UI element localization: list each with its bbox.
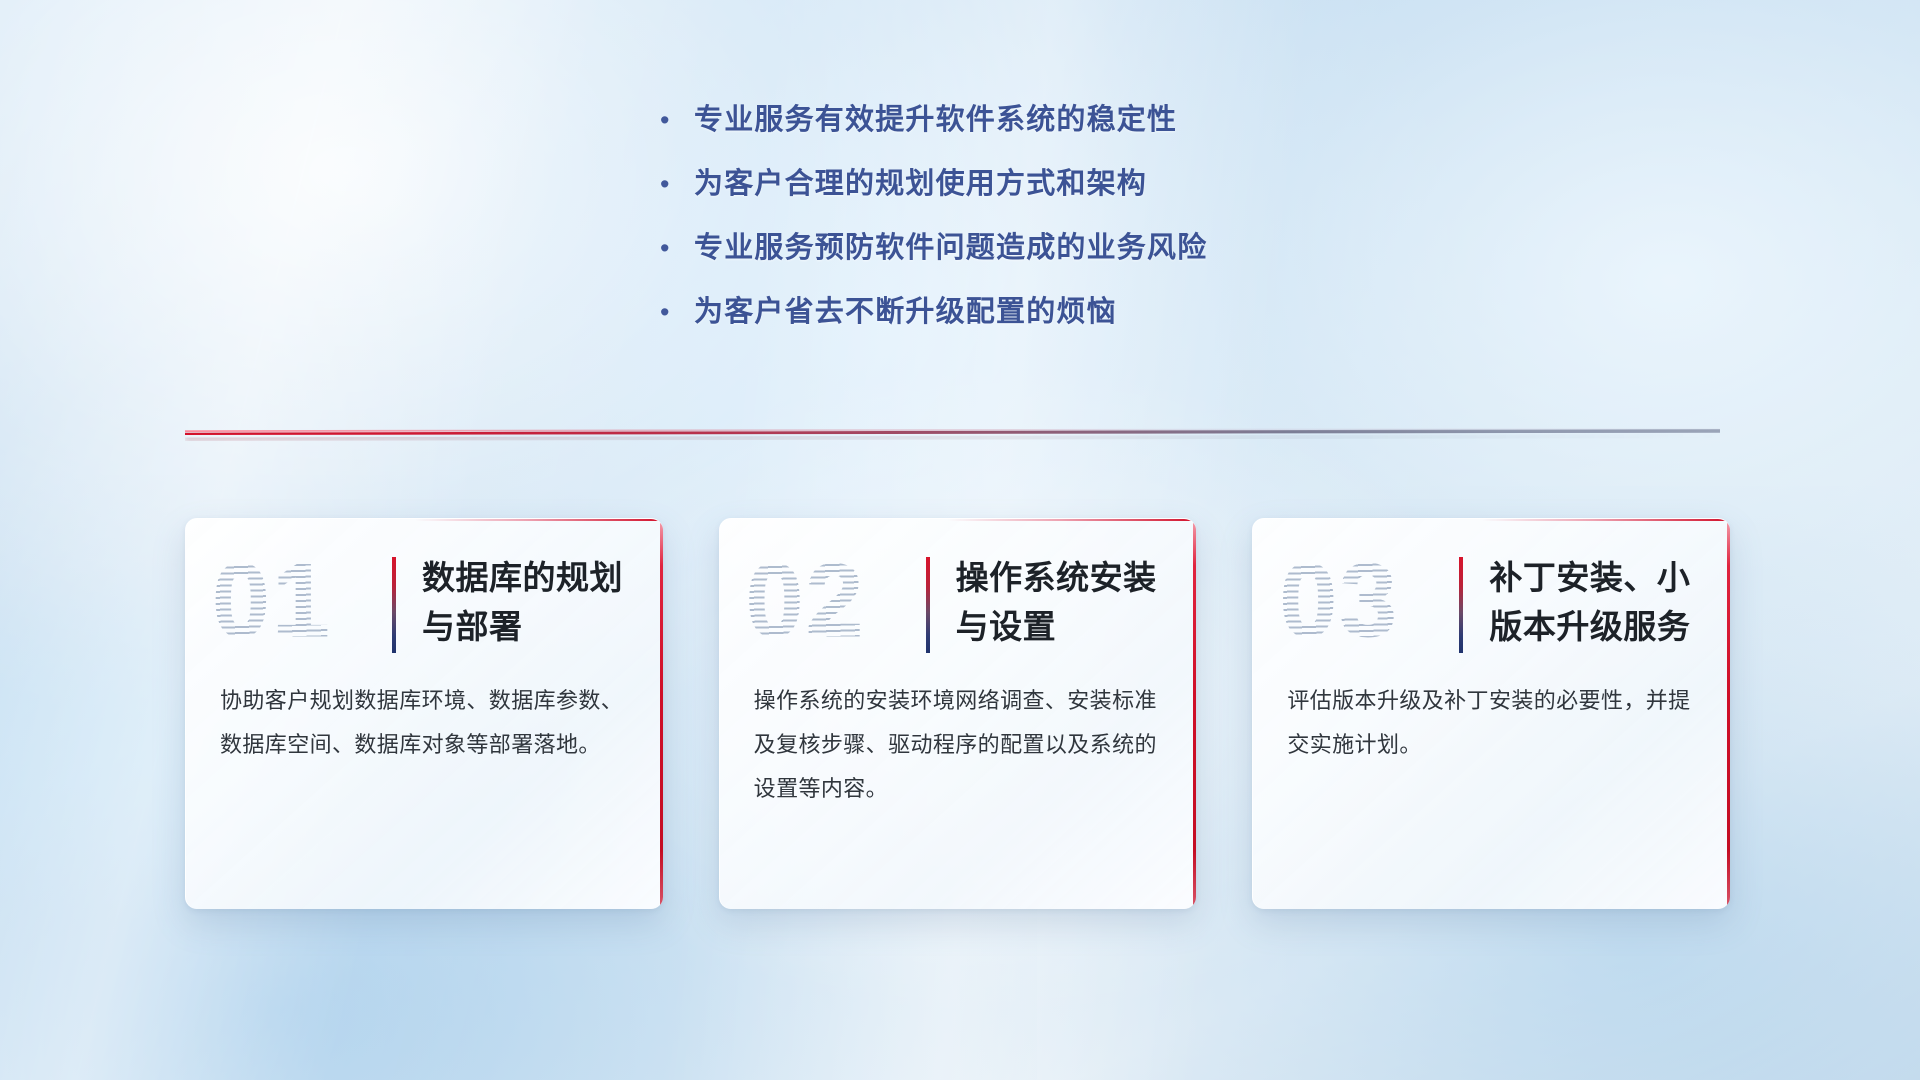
card-title-wrap: 操作系统安装 与设置 bbox=[926, 553, 1157, 679]
card-header: 02 操作系统安装 与设置 bbox=[720, 519, 1197, 679]
card-title-accent-bar bbox=[392, 557, 396, 653]
service-card-01[interactable]: 01 数据库的规划 与部署 协助客户规划数据库环境、数据库参数、数据库空间、数据… bbox=[185, 518, 663, 909]
service-card-group: 01 数据库的规划 与部署 协助客户规划数据库环境、数据库参数、数据库空间、数据… bbox=[185, 518, 1730, 909]
section-divider bbox=[185, 425, 1720, 441]
card-title: 操作系统安装 与设置 bbox=[956, 553, 1157, 651]
bullet-marker-icon: • bbox=[660, 290, 694, 334]
card-title: 数据库的规划 与部署 bbox=[422, 553, 623, 651]
bullet-text: 为客户合理的规划使用方式和架构 bbox=[694, 162, 1147, 206]
service-card-02[interactable]: 02 操作系统安装 与设置 操作系统的安装环境网络调查、安装标准及复核步骤、驱动… bbox=[719, 518, 1197, 909]
card-number: 01 bbox=[212, 549, 332, 653]
bullet-marker-icon: • bbox=[660, 162, 694, 206]
card-number: 02 bbox=[746, 549, 866, 653]
service-card-03[interactable]: 03 补丁安装、小 版本升级服务 评估版本升级及补丁安装的必要性，并提交实施计划… bbox=[1252, 518, 1730, 909]
list-item: • 为客户省去不断升级配置的烦恼 bbox=[660, 290, 1420, 354]
card-header: 03 补丁安装、小 版本升级服务 bbox=[1253, 519, 1730, 679]
bullet-marker-icon: • bbox=[660, 98, 694, 142]
card-header: 01 数据库的规划 与部署 bbox=[186, 519, 663, 679]
card-number: 03 bbox=[1279, 549, 1399, 653]
card-title-accent-bar bbox=[926, 557, 930, 653]
card-body-text: 协助客户规划数据库环境、数据库参数、数据库空间、数据库对象等部署落地。 bbox=[186, 679, 663, 767]
list-item: • 专业服务预防软件问题造成的业务风险 bbox=[660, 226, 1420, 290]
card-title-wrap: 补丁安装、小 版本升级服务 bbox=[1459, 553, 1690, 679]
bullet-text: 专业服务预防软件问题造成的业务风险 bbox=[694, 226, 1207, 270]
list-item: • 专业服务有效提升软件系统的稳定性 bbox=[660, 98, 1420, 162]
card-title: 补丁安装、小 版本升级服务 bbox=[1489, 553, 1690, 651]
list-item: • 为客户合理的规划使用方式和架构 bbox=[660, 162, 1420, 226]
bullet-text: 为客户省去不断升级配置的烦恼 bbox=[694, 290, 1117, 334]
card-title-wrap: 数据库的规划 与部署 bbox=[392, 553, 623, 679]
divider-shadow bbox=[185, 434, 1720, 441]
card-body-text: 评估版本升级及补丁安装的必要性，并提交实施计划。 bbox=[1253, 679, 1730, 767]
bullet-marker-icon: • bbox=[660, 226, 694, 270]
card-body-text: 操作系统的安装环境网络调查、安装标准及复核步骤、驱动程序的配置以及系统的设置等内… bbox=[720, 679, 1197, 811]
benefits-bullet-list: • 专业服务有效提升软件系统的稳定性 • 为客户合理的规划使用方式和架构 • 专… bbox=[660, 98, 1420, 354]
card-title-accent-bar bbox=[1459, 557, 1463, 653]
bullet-text: 专业服务有效提升软件系统的稳定性 bbox=[694, 98, 1177, 142]
